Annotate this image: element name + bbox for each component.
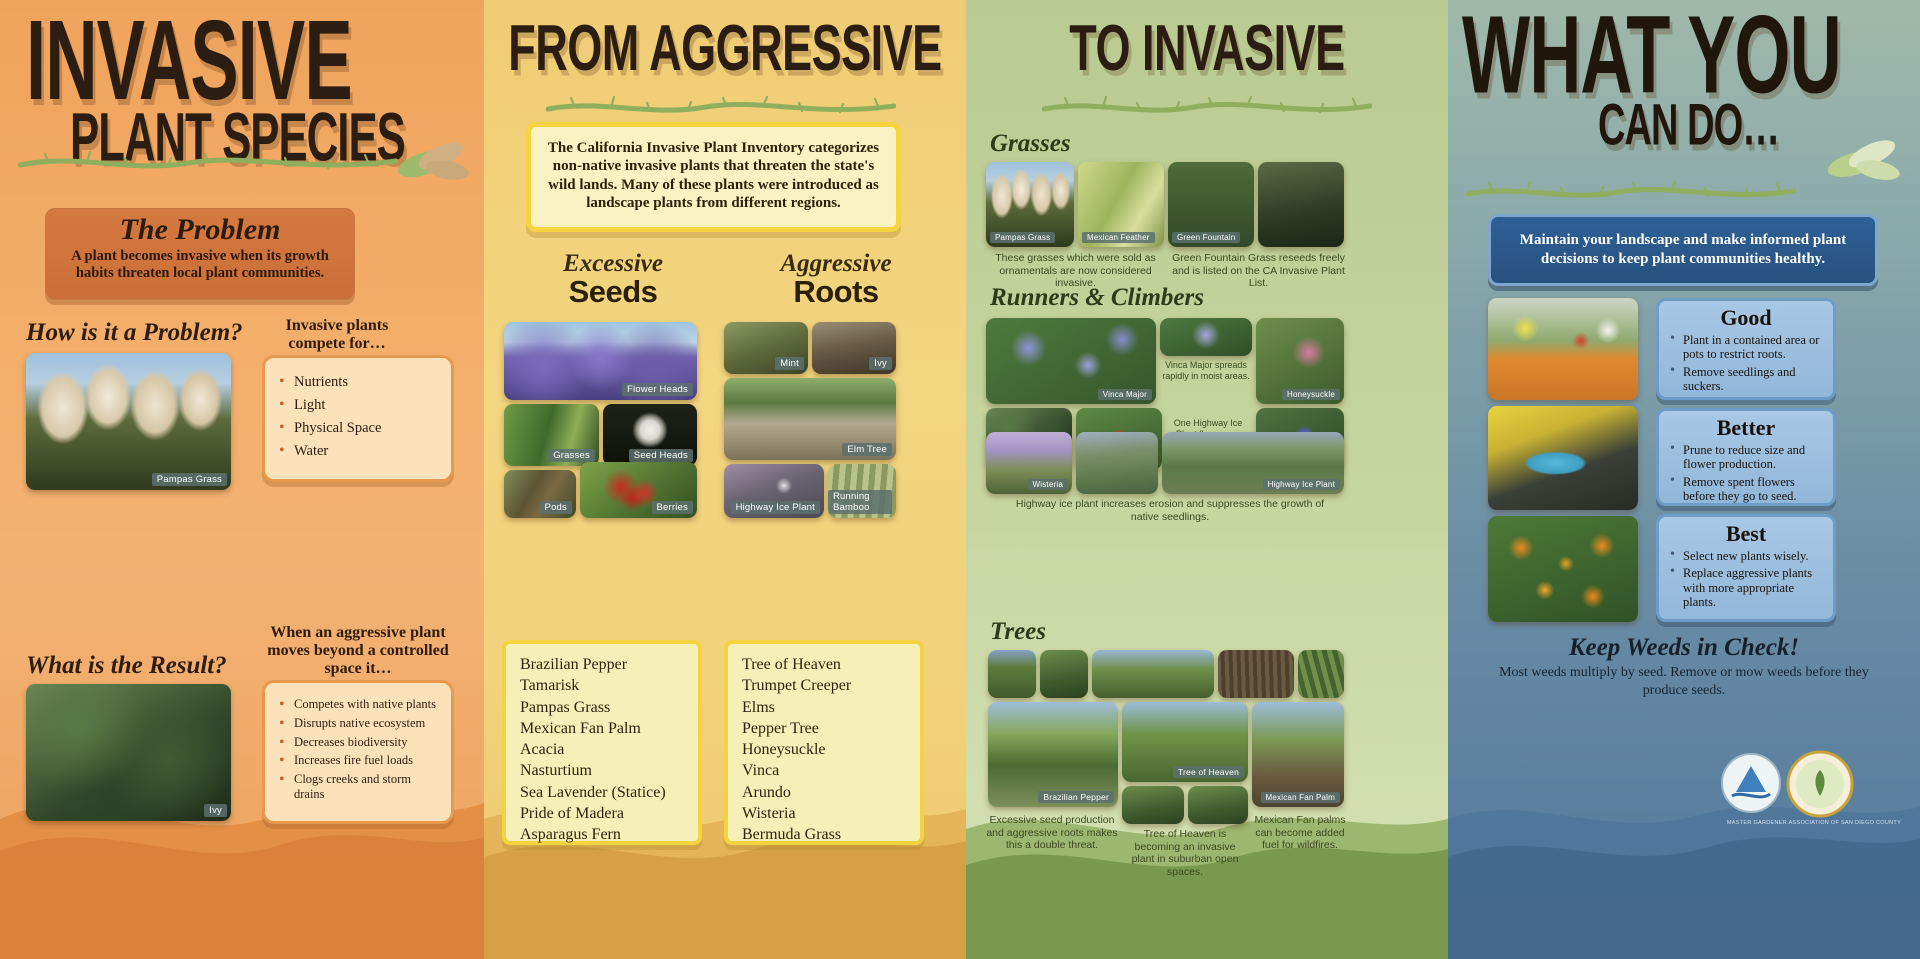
brazilian-pepper-photo: Brazilian Pepper [988,702,1118,807]
mint-roots-photo: Mint [724,322,808,374]
panel2-heading: FROM AGGRESSIVE [484,10,966,85]
list-item: Increases fire fuel loads [277,753,439,768]
running-bamboo-photo: Running Bamboo [828,464,896,518]
maintain-landscape-banner: Maintain your landscape and make informe… [1488,214,1878,286]
list-item: Bermuda Grass [742,824,906,845]
water-authority-logo-icon [1720,752,1782,814]
marigolds-photo [1488,516,1638,622]
list-item: Elms [742,697,906,718]
list-item: Pride of Madera [520,803,684,824]
elm-tree-photo: Elm Tree [724,378,896,460]
list-item: Prune to reduce size and flower producti… [1669,443,1823,472]
list-item: Disrupts native ecosystem [277,716,439,731]
flower-heads-photo: Flower Heads [504,322,697,400]
list-item: Nasturtium [520,760,684,781]
list-item: Mexican Fan Palm [520,718,684,739]
panel-to-invasive: TO INVASIVE Grasses Pampas Grass Mexican… [966,0,1448,959]
list-item: Decreases biodiversity [277,735,439,750]
good-card: Good Plant in a contained area or pots t… [1656,298,1836,400]
poster-title-what-you: WHAT YOU [1462,10,1897,104]
list-item: Select new plants wisely. [1669,549,1823,563]
poster-title-invasive: INVASIVE [26,12,452,108]
photo-caption: Vinca Major [1098,389,1152,400]
keep-weeds-heading: Keep Weeds in Check! [1448,634,1920,662]
list-item: Asparagus Fern [520,824,684,845]
list-item: Light [277,397,439,414]
how-is-it-a-problem-heading: How is it a Problem? [26,319,243,347]
photo-caption: Highway Ice Plant [731,501,820,514]
invasive-plant-species-poster: INVASIVE PLANT SPECIES [0,0,1920,959]
list-item: Competes with native plants [277,697,439,712]
aggressive-roots-plant-list: Tree of Heaven Trumpet Creeper Elms Pepp… [724,640,924,845]
excessive-seeds-plant-list: Brazilian Pepper Tamarisk Pampas Grass M… [502,640,702,845]
list-item: Honeysuckle [742,739,906,760]
list-item: Water [277,443,439,460]
vine-divider-panel4 [1466,181,1796,203]
list-item: Tree of Heaven [742,654,906,675]
compete-for-list: Nutrients Light Physical Space Water [262,355,454,482]
photo-caption: Wisteria [1028,479,1069,490]
trees-caption-3: Mexican Fan palms can become added fuel … [1252,814,1348,852]
photo-caption: Grasses [548,449,595,462]
photo-caption: Pods [540,501,572,514]
ice-plant-closeup-photo [1076,432,1158,494]
pruning-shears-photo [1488,406,1638,510]
excessive-seeds-heading: Excessive Seeds [508,250,718,310]
mexican-fan-palm-photo: Mexican Fan Palm [1252,702,1344,807]
panel-from-aggressive: FROM AGGRESSIVE The California Invasive … [484,0,966,959]
list-item: Replace aggressive plants with more appr… [1669,566,1823,609]
card-title: Best [1669,522,1823,546]
tree-photo-1 [988,650,1036,698]
list-item: Plant in a contained area or pots to res… [1669,333,1823,362]
better-card: Better Prune to reduce size and flower p… [1656,408,1836,506]
photo-caption: Mexican Fan Palm [1261,792,1340,803]
photo-caption: Running Bamboo [828,490,892,514]
tree-of-heaven-photo: Tree of Heaven [1122,702,1248,782]
tree-photo-2 [1040,650,1088,698]
the-problem-title: The Problem [56,215,344,245]
highway-ice-plant-caption: Highway ice plant increases erosion and … [1014,498,1326,523]
list-item: Nutrients [277,374,439,391]
logo-caption: MASTER GARDENER ASSOCIATION OF SAN DIEGO… [1714,820,1914,826]
photo-caption: Flower Heads [622,383,693,396]
vinca-major-photo: Vinca Major [986,318,1156,404]
panel3-heading: TO INVASIVE [966,10,1448,85]
list-item: Clogs creeks and storm drains [277,772,439,802]
photo-caption: Berries [652,501,694,514]
wisteria-photo: Wisteria [986,432,1072,494]
banner-text: Maintain your landscape and make informe… [1503,231,1863,269]
photo-caption: Seed Heads [629,449,693,462]
grasses-heading: Grasses [990,130,1071,158]
invasive-plants-compete-heading: Invasive plants compete for… [272,317,402,353]
photo-caption: Pampas Grass [990,232,1055,243]
list-item: Remove seedlings and suckers. [1669,365,1823,394]
list-item: Vinca [742,760,906,781]
vinca-spread-photo [1160,318,1252,356]
list-item: Brazilian Pepper [520,654,684,675]
green-fountain-photo: Green Fountain [1168,162,1254,247]
keep-weeds-text: Most weeds multiply by seed. Remove or m… [1488,664,1880,699]
photo-caption: Green Fountain [1172,232,1240,243]
list-item: Physical Space [277,420,439,437]
photo-caption: Mint [775,357,804,370]
photo-caption: Ivy [204,804,227,817]
aggressive-roots-heading: Aggressive Roots [726,250,946,310]
leaf-sprig-icon [1824,130,1904,190]
result-effects-list: Competes with native plants Disrupts nat… [262,680,454,824]
list-item: Arundo [742,782,906,803]
panel-what-you-can-do: WHAT YOU CAN DO… Maintain your [1448,0,1920,959]
seed-heads-photo: Seed Heads [603,404,697,466]
photo-caption: Brazilian Pepper [1038,791,1114,803]
palm-frond-photo [1298,650,1344,698]
trees-caption-1: Excessive seed production and aggressive… [984,814,1120,852]
honeysuckle-photo: Honeysuckle [1256,318,1344,404]
aggressive-plant-intro: When an aggressive plant moves beyond a … [258,624,458,678]
container-planting-photo [1488,298,1638,400]
highway-ice-plant-photo: Highway Ice Plant [1162,432,1344,494]
panel-the-problem: INVASIVE PLANT SPECIES [0,0,484,959]
vine-divider-panel1 [18,151,398,173]
seed-cluster-photo [1188,786,1248,824]
photo-caption: Tree of Heaven [1173,766,1244,778]
card-title: Better [1669,416,1823,440]
fern-leaf-photo [1122,786,1184,824]
list-item: Remove spent flowers before they go to s… [1669,475,1823,504]
vinca-note: Vinca Major spreads rapidly in moist are… [1158,360,1254,382]
runners-climbers-heading: Runners & Climbers [990,284,1204,312]
the-problem-text: A plant becomes invasive when its growth… [56,248,344,282]
pods-photo: Pods [504,470,576,518]
inventory-text: The California Invasive Plant Inventory … [545,139,882,212]
photo-caption: Honeysuckle [1282,389,1340,400]
photo-caption: Pampas Grass [152,473,227,486]
leaf-sprig-icon [395,130,473,192]
mexican-feather-photo: Mexican Feather [1078,162,1164,247]
tree-bark-photo [1218,650,1294,698]
vine-divider-panel2 [546,96,896,118]
highway-ice-plant-photo: Highway Ice Plant [724,464,824,518]
card-title: Good [1669,306,1823,330]
fountain-grass-photo [1258,162,1344,247]
list-item: Pampas Grass [520,697,684,718]
what-is-the-result-heading: What is the Result? [26,652,227,680]
photo-caption: Highway Ice Plant [1263,479,1340,490]
pampas-grass-photo: Pampas Grass [26,353,231,490]
berries-photo: Berries [580,462,697,518]
list-item: Sea Lavender (Statice) [520,782,684,803]
the-problem-box: The Problem A plant becomes invasive whe… [45,208,355,300]
grasses-photo: Grasses [504,404,599,466]
vine-divider-panel3 [1042,96,1372,118]
trees-heading: Trees [990,618,1046,646]
pampas-grass-photo: Pampas Grass [986,162,1074,247]
panel4-wave-decoration [1448,699,1920,959]
master-gardener-logo-icon [1786,750,1854,818]
seeds-label: Seeds [508,274,718,310]
list-item: Tamarisk [520,675,684,696]
ivy-roots-photo: Ivy [812,322,896,374]
ivy-photo: Ivy [26,684,231,821]
list-item: Trumpet Creeper [742,675,906,696]
california-inventory-box: The California Invasive Plant Inventory … [526,122,901,232]
list-item: Acacia [520,739,684,760]
photo-caption: Elm Tree [842,443,892,456]
list-item: Pepper Tree [742,718,906,739]
list-item: Wisteria [742,803,906,824]
photo-caption: Ivy [869,357,892,370]
tree-photo-3 [1092,650,1214,698]
best-card: Best Select new plants wisely. Replace a… [1656,514,1836,622]
roots-label: Roots [726,274,946,310]
photo-caption: Mexican Feather [1082,232,1155,243]
trees-caption-2: Tree of Heaven is becoming an invasive p… [1122,828,1248,878]
